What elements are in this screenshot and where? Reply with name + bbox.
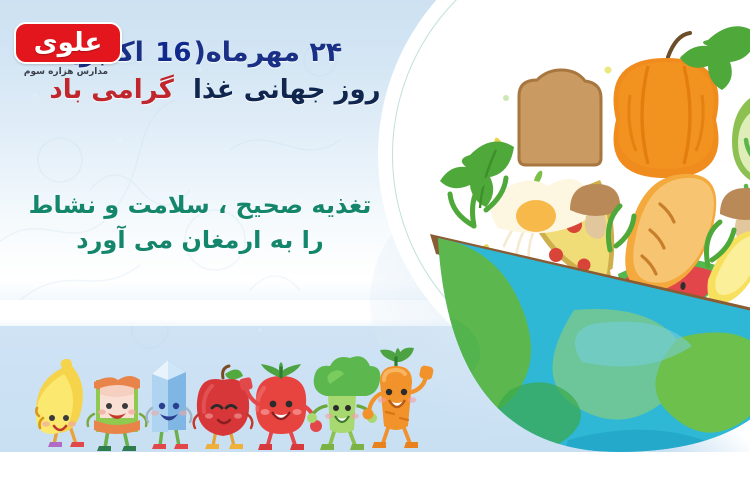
logo-name: علوی — [34, 30, 103, 56]
title-accent: گرامی باد — [49, 75, 174, 105]
bread-slice-icon — [519, 70, 601, 165]
logo-badge: علوی — [14, 22, 122, 64]
avocado-icon — [732, 86, 750, 188]
slogan-line-2: را به ارمغان می آورد — [0, 223, 400, 258]
school-logo[interactable]: علوی مدارس هزاره سوم — [10, 22, 122, 77]
poster-banner: علوی مدارس هزاره سوم ۲۴ مهرماه(16 اکتبر)… — [0, 0, 750, 480]
title-line: روز جهانی غذا گرامی باد — [0, 74, 440, 108]
slogan-line-1: تغذیه صحیح ، سلامت و نشاط — [29, 191, 372, 219]
logo-subtitle: مدارس هزاره سوم — [10, 67, 122, 77]
date-number: 16 — [153, 38, 193, 68]
date-prefix: ۲۴ مهرماه — [206, 37, 343, 68]
cartoon-food-characters — [20, 352, 420, 452]
paren-open: ( — [193, 37, 205, 68]
milk-carton-mascot — [138, 352, 200, 452]
title-main: روز جهانی غذا — [193, 75, 381, 105]
slogan-block: تغذیه صحیح ، سلامت و نشاط را به ارمغان م… — [0, 188, 400, 258]
earth-bowl — [390, 174, 750, 480]
carrot-mascot — [362, 348, 432, 452]
